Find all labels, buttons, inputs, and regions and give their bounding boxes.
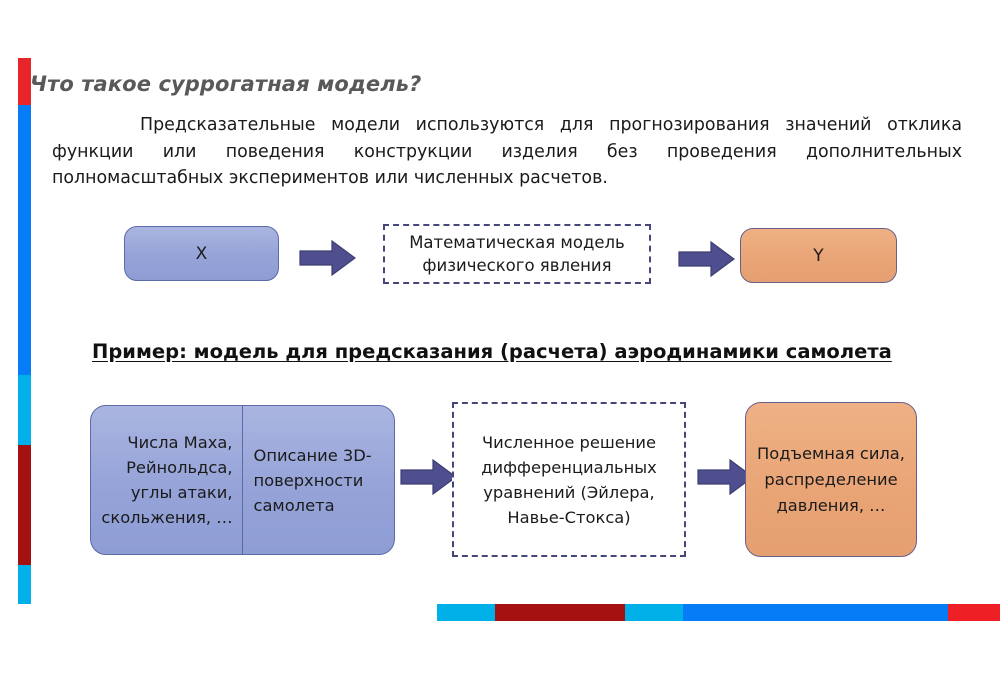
- bottom-segment-cyan-2: [625, 604, 683, 621]
- process-box-numerical-solution-label: Численное решение дифференциальных уравн…: [459, 430, 679, 530]
- bottom-accent-bar: [437, 604, 1000, 621]
- left-accent-bar: [18, 58, 31, 604]
- bottom-segment-cyan: [437, 604, 495, 621]
- bottom-segment-dark-red: [495, 604, 625, 621]
- inputs-column-parameters-label: Числа Маха, Рейнольдса, углы атаки, скол…: [101, 430, 233, 530]
- accent-segment-blue: [18, 105, 31, 375]
- body-paragraph: Предсказательные модели используются для…: [52, 112, 962, 192]
- presentation-slide: Что такое суррогатная модель? Предсказат…: [0, 0, 1000, 691]
- accent-segment-cyan: [18, 375, 31, 445]
- accent-segment-cyan-2: [18, 565, 31, 604]
- process-box-math-model: Математическая модель физического явлени…: [383, 224, 651, 284]
- right-arrow-icon: [678, 241, 735, 277]
- input-box-x: X: [124, 226, 279, 281]
- right-arrow-icon: [299, 240, 356, 276]
- bottom-segment-red: [948, 604, 1000, 621]
- output-box-y-label: Y: [813, 246, 823, 266]
- process-box-numerical-solution: Численное решение дифференциальных уравн…: [452, 402, 686, 557]
- input-box-x-label: X: [196, 244, 208, 264]
- outputs-box-label: Подъемная сила, распределение давления, …: [754, 441, 908, 519]
- accent-segment-dark-red: [18, 445, 31, 565]
- slide-title: Что такое суррогатная модель?: [30, 72, 421, 96]
- process-box-math-model-label: Математическая модель физического явлени…: [391, 231, 643, 277]
- output-box-y: Y: [740, 228, 897, 283]
- inputs-column-parameters: Числа Маха, Рейнольдса, углы атаки, скол…: [91, 406, 243, 554]
- inputs-box: Числа Маха, Рейнольдса, углы атаки, скол…: [90, 405, 395, 555]
- inputs-column-geometry: Описание 3D-поверхности самолета: [243, 406, 395, 554]
- inputs-column-geometry-label: Описание 3D-поверхности самолета: [254, 443, 387, 518]
- outputs-box: Подъемная сила, распределение давления, …: [745, 402, 917, 557]
- bottom-segment-blue: [683, 604, 948, 621]
- right-arrow-icon: [400, 459, 457, 495]
- example-heading: Пример: модель для предсказания (расчета…: [92, 340, 892, 363]
